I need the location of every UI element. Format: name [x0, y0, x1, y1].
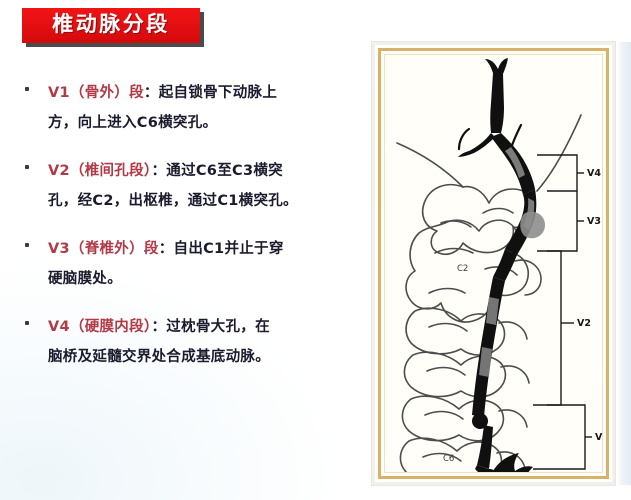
- list-item-line: 脑桥及延髓交界处合成基底动脉。: [48, 342, 358, 372]
- c1-detail-b: [483, 209, 513, 214]
- pica-branch-left: [459, 129, 469, 149]
- bracket-v4-v3-outer: [537, 155, 577, 251]
- list-item-text: V4（硬膜内段）：过枕骨大孔，在 脑桥及延髓交界处合成基底动脉。: [20, 312, 358, 372]
- list-item-line: V2（椎间孔段）：通过C6至C3横突: [48, 156, 358, 186]
- label-c2: C2: [457, 264, 468, 274]
- segment-desc: 脑桥及延髓交界处合成基底动脉。: [48, 349, 270, 365]
- segment-desc: 硬脑膜处。: [48, 271, 122, 287]
- list-item-line: V1（骨外）段：起自锁骨下动脉上: [48, 78, 358, 108]
- c2-detail-c: [429, 289, 465, 294]
- segment-name: V4（硬膜内段）: [48, 319, 151, 335]
- artery-segment-v1: [477, 425, 493, 469]
- figure-inner-frame: V4 V3 V2 V1 C2 C6: [384, 54, 603, 473]
- label-v3: V3: [587, 216, 601, 227]
- bullet-dot-icon: [25, 165, 29, 169]
- bracket-v1: [533, 405, 585, 469]
- basilar-artery-trunk: [485, 58, 508, 133]
- segment-desc: ：过枕骨大孔，在: [151, 319, 269, 335]
- slide-canvas: 椎动脉分段 V1（骨外）段：起自锁骨下动脉上 方，向上进入C6横突孔。 V2（椎…: [0, 0, 631, 500]
- list-item-line: 孔，经C2，出枢椎，通过C1横突孔。: [48, 186, 358, 216]
- bullet-dot-icon: [25, 87, 29, 91]
- segment-desc: 孔，经C2，出枢椎，通过C1横突孔。: [48, 193, 298, 209]
- segment-name: V3（脊椎外）段: [48, 241, 159, 257]
- bullet-dot-icon: [25, 243, 29, 247]
- figure-gold-frame: V4 V3 V2 V1 C2 C6: [378, 48, 609, 479]
- segment-desc: ：起自锁骨下动脉上: [144, 85, 277, 101]
- anatomy-figure-panel: V4 V3 V2 V1 C2 C6: [372, 42, 615, 485]
- segment-description-list: V1（骨外）段：起自锁骨下动脉上 方，向上进入C6横突孔。 V2（椎间孔段）：通…: [20, 78, 358, 390]
- artery-v3-loop: [520, 212, 545, 239]
- segment-desc: 方，向上进入C6横突孔。: [48, 115, 217, 131]
- segment-bracket-group: [533, 155, 592, 469]
- list-item-line: 方，向上进入C6横突孔。: [48, 108, 358, 138]
- vertebral-artery-diagram: V4 V3 V2 V1 C2 C6: [385, 55, 603, 473]
- artery-c2-transition: [493, 249, 517, 281]
- left-vertebral-artery-stub: [458, 133, 495, 157]
- list-item: V1（骨外）段：起自锁骨下动脉上 方，向上进入C6横突孔。: [20, 78, 358, 138]
- title-banner: 椎动脉分段: [22, 8, 200, 43]
- list-item: V4（硬膜内段）：过枕骨大孔，在 脑桥及延髓交界处合成基底动脉。: [20, 312, 358, 372]
- list-item: V2（椎间孔段）：通过C6至C3横突 孔，经C2，出枢椎，通过C1横突孔。: [20, 156, 358, 216]
- c4-detail: [427, 368, 465, 375]
- bullet-dot-icon: [25, 321, 29, 325]
- panel-right-edge-shading: [617, 42, 631, 485]
- label-v1: V1: [595, 432, 603, 443]
- transverse-hook-c3: [499, 322, 527, 339]
- title-banner-group: 椎动脉分段: [22, 8, 200, 43]
- segment-name: V1（骨外）段: [48, 85, 144, 101]
- segment-desc: ：自出C1并止于穿: [159, 241, 284, 257]
- c5-detail: [425, 412, 463, 419]
- cervical-spine-outlines: [397, 115, 581, 473]
- bracket-v2: [547, 251, 561, 405]
- list-item-line: V3（脊椎外）段：自出C1并止于穿: [48, 234, 358, 264]
- occiput-right-curve: [537, 115, 581, 191]
- c3-detail: [429, 324, 467, 331]
- label-c6: C6: [443, 454, 454, 464]
- list-item-text: V3（脊椎外）段：自出C1并止于穿 硬脑膜处。: [20, 234, 358, 294]
- list-item-text: V1（骨外）段：起自锁骨下动脉上 方，向上进入C6横突孔。: [20, 78, 358, 138]
- label-v2: V2: [577, 318, 591, 329]
- segment-name: V2（椎间孔段）: [48, 163, 151, 179]
- list-item-line: V4（硬膜内段）：过枕骨大孔，在: [48, 312, 358, 342]
- c6-detail: [423, 454, 461, 461]
- segment-desc: ：通过C6至C3横突: [151, 163, 282, 179]
- label-v4: V4: [587, 168, 601, 179]
- list-item-line: 硬脑膜处。: [48, 264, 358, 294]
- page-title: 椎动脉分段: [52, 14, 170, 35]
- list-item-text: V2（椎间孔段）：通过C6至C3横突 孔，经C2，出枢椎，通过C1横突孔。: [20, 156, 358, 216]
- occiput-left-curve: [397, 143, 463, 187]
- vertebra-label-group: C2 C6: [443, 264, 468, 464]
- list-item: V3（脊椎外）段：自出C1并止于穿 硬脑膜处。: [20, 234, 358, 294]
- diagram-label-group: V4 V3 V2 V1: [577, 168, 603, 443]
